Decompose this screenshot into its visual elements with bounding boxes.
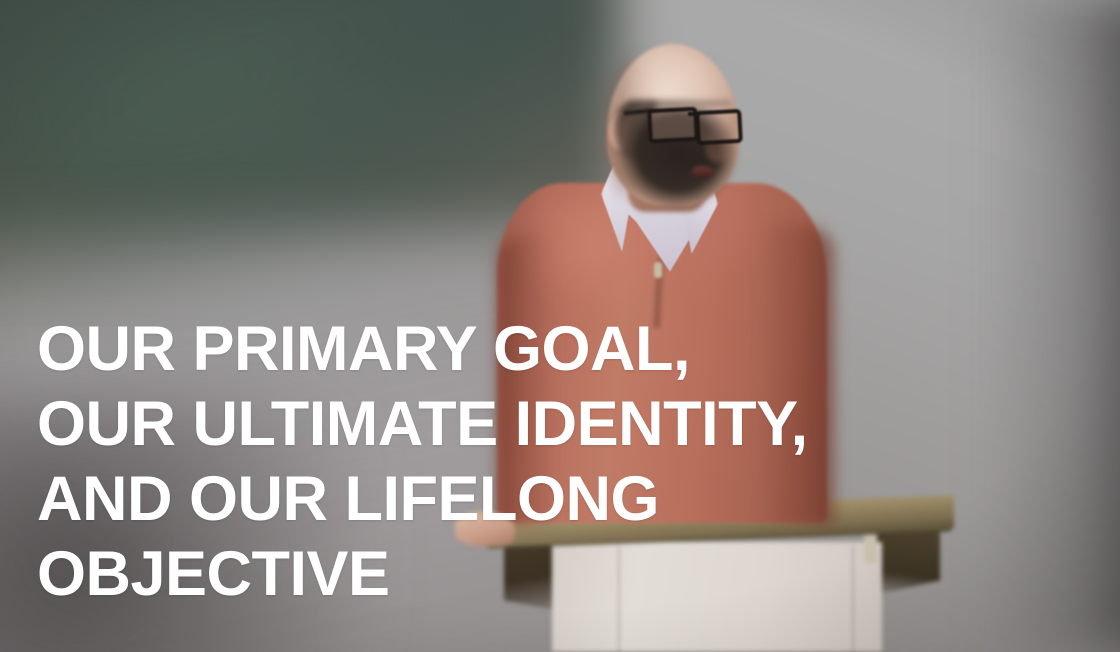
caption-line-3: AND OUR LIFELONG — [37, 462, 1107, 537]
brow-shading — [650, 100, 730, 107]
mouth — [692, 166, 714, 178]
caption-line-2: OUR ULTIMATE IDENTITY, — [37, 387, 1107, 462]
caption-block: OUR PRIMARY GOAL, OUR ULTIMATE IDENTITY,… — [37, 312, 1107, 612]
zipper-pull — [654, 262, 662, 278]
caption-line-4: OBJECTIVE — [37, 537, 1107, 612]
video-still: OUR PRIMARY GOAL, OUR ULTIMATE IDENTITY,… — [0, 0, 1120, 652]
glasses-right-lens-icon — [695, 109, 743, 145]
caption-line-1: OUR PRIMARY GOAL, — [37, 312, 1107, 387]
